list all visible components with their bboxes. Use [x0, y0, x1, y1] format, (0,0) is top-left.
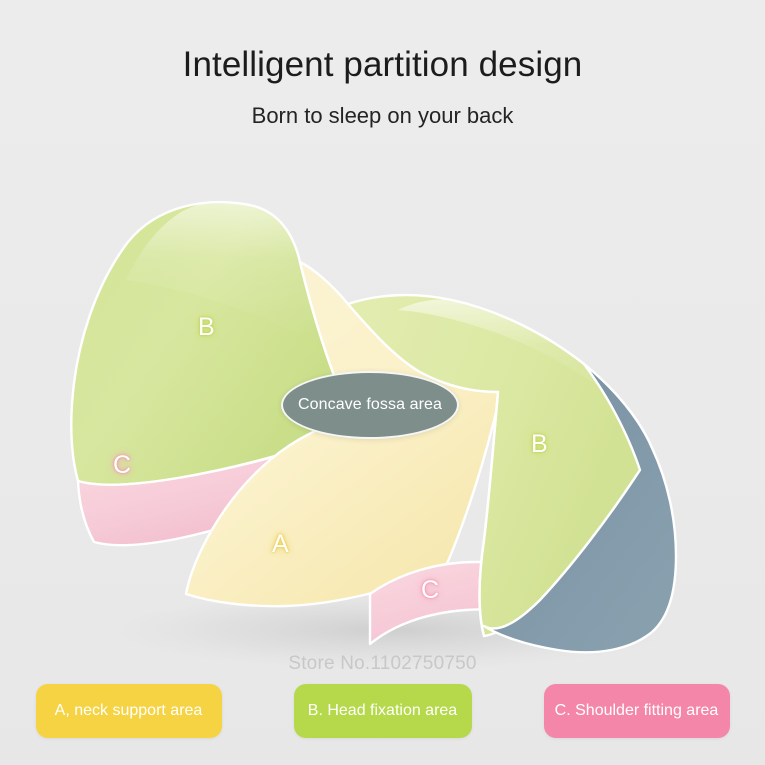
region-marker-a: A: [272, 532, 289, 557]
product-infographic: Intelligent partition design Born to sle…: [0, 0, 765, 765]
region-marker-c-right: C: [421, 578, 439, 603]
legend-item-a: A, neck support area: [36, 684, 222, 738]
legend-item-a-label: A, neck support area: [55, 702, 203, 720]
region-marker-b-right: B: [531, 432, 548, 457]
legend-item-c-label: C. Shoulder fitting area: [555, 702, 719, 720]
store-watermark: Store No.1102750750: [0, 653, 765, 675]
concave-fossa-label: Concave fossa area: [298, 396, 442, 414]
legend: A, neck support area B. Head fixation ar…: [0, 684, 765, 738]
legend-item-b: B. Head fixation area: [294, 684, 472, 738]
legend-item-c: C. Shoulder fitting area: [544, 684, 730, 738]
concave-fossa-callout: Concave fossa area: [281, 371, 459, 439]
legend-item-b-label: B. Head fixation area: [308, 702, 457, 720]
region-marker-c-left: C: [113, 453, 131, 478]
region-marker-b-left: B: [198, 315, 215, 340]
